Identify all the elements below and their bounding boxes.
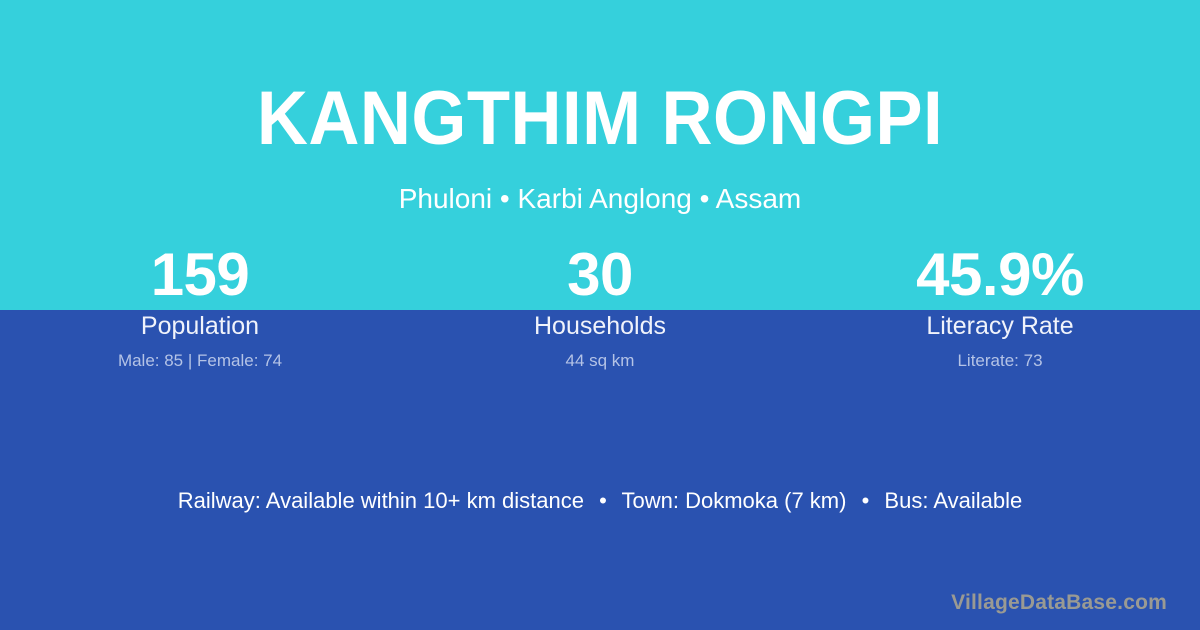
amenity-town: Town: Dokmoka (7 km)	[622, 488, 847, 513]
stat-population: 159 Population Male: 85 | Female: 74	[0, 242, 400, 371]
stat-population-breakdown: Male: 85 | Female: 74	[0, 350, 400, 371]
stat-households-label: Households	[400, 311, 800, 341]
amenity-separator-2: •	[853, 487, 879, 515]
amenity-separator-1: •	[590, 487, 616, 515]
stat-population-value: 159	[0, 242, 400, 310]
stat-households: 30 Households 44 sq km	[400, 242, 800, 371]
stat-population-label: Population	[0, 311, 400, 341]
location-breadcrumb: Phuloni • Karbi Anglong • Assam	[0, 182, 1200, 216]
page-title: KANGTHIM RONGPI	[42, 78, 1158, 160]
village-info-card: KANGTHIM RONGPI Phuloni • Karbi Anglong …	[0, 0, 1200, 630]
stat-literacy-label: Literacy Rate	[800, 311, 1200, 341]
stat-literacy-value: 45.9%	[800, 242, 1200, 310]
stat-literacy: 45.9% Literacy Rate Literate: 73	[800, 242, 1200, 371]
site-watermark: VillageDataBase.com	[951, 590, 1167, 616]
amenities-line: Railway: Available within 10+ km distanc…	[0, 487, 1200, 515]
amenity-bus: Bus: Available	[884, 488, 1022, 513]
statistics-row: 159 Population Male: 85 | Female: 74 30 …	[0, 242, 1200, 371]
stat-households-area: 44 sq km	[400, 350, 800, 371]
amenity-railway: Railway: Available within 10+ km distanc…	[178, 488, 584, 513]
stat-literacy-count: Literate: 73	[800, 350, 1200, 371]
stat-households-value: 30	[400, 242, 800, 310]
